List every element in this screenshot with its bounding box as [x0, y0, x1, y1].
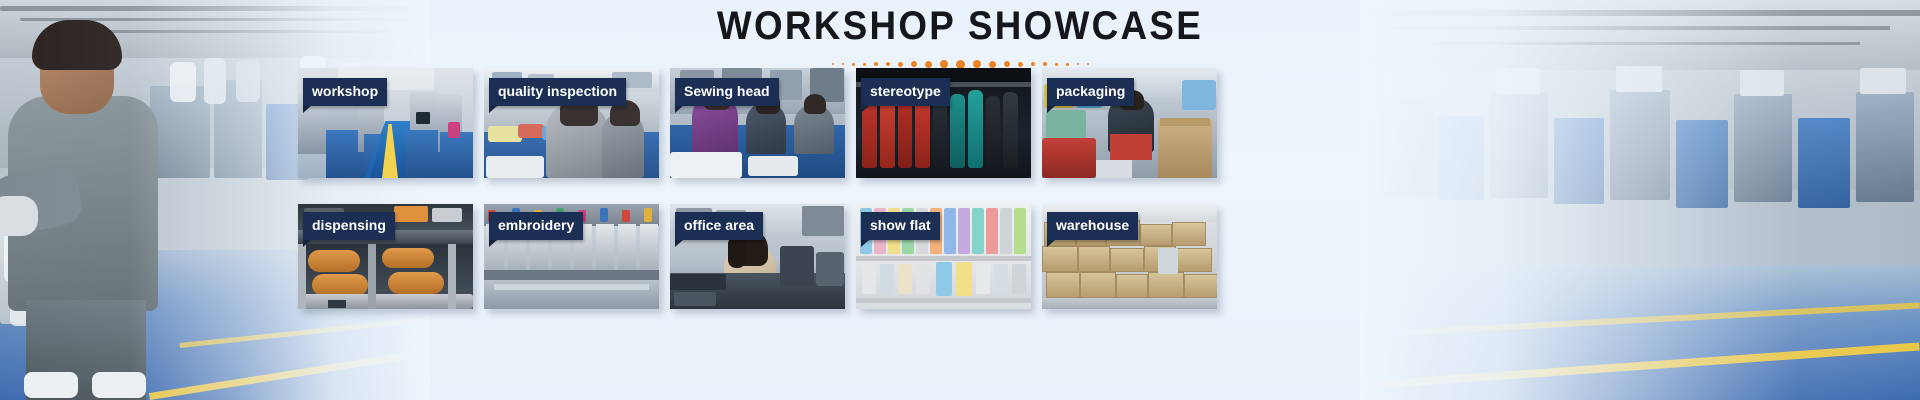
gallery-grid: workshop [298, 68, 1258, 309]
gallery-row-1: workshop [298, 68, 1258, 178]
gallery-card-workshop[interactable]: workshop [298, 68, 473, 178]
divider-dot-15 [1018, 62, 1023, 67]
divider-dot-1 [832, 63, 834, 65]
divider-dot-20 [1077, 63, 1079, 65]
gallery-card-show-flat[interactable]: show flat [856, 204, 1031, 309]
card-label: office area [675, 212, 763, 240]
card-label: dispensing [303, 212, 395, 240]
gallery-card-quality-inspection[interactable]: quality inspection [484, 68, 659, 178]
gallery-card-sewing-head[interactable]: Sewing head [670, 68, 845, 178]
divider-dot-7 [898, 62, 903, 67]
divider-dot-12 [973, 60, 981, 68]
page-title: WORKSHOP SHOWCASE [77, 0, 1843, 46]
card-label: Sewing head [675, 78, 779, 106]
divider-dot-2 [842, 63, 844, 65]
divider-dot-17 [1043, 62, 1047, 66]
divider-dot-4 [863, 63, 866, 66]
gallery-card-dispensing[interactable]: dispensing [298, 204, 473, 309]
divider-dot-5 [874, 62, 878, 66]
gallery-card-warehouse[interactable]: warehouse [1042, 204, 1217, 309]
divider-dot-9 [925, 61, 932, 68]
gallery-card-stereotype[interactable]: stereotype [856, 68, 1031, 178]
card-label: packaging [1047, 78, 1134, 106]
card-label: workshop [303, 78, 387, 106]
divider-dot-21 [1087, 63, 1089, 65]
divider-dot-18 [1055, 63, 1058, 66]
divider-dot-8 [911, 61, 917, 67]
gallery-row-2: dispensing [298, 204, 1258, 309]
card-label: warehouse [1047, 212, 1138, 240]
card-label: stereotype [861, 78, 950, 106]
workshop-showcase-banner: WORKSHOP SHOWCASE [0, 0, 1920, 400]
gallery-card-office-area[interactable]: office area [670, 204, 845, 309]
divider-dot-10 [940, 60, 948, 68]
gallery-card-packaging[interactable]: packaging [1042, 68, 1217, 178]
card-label: show flat [861, 212, 940, 240]
card-label: embroidery [489, 212, 583, 240]
divider-dot-16 [1031, 62, 1035, 66]
divider-dot-19 [1066, 63, 1069, 66]
divider-dot-6 [886, 62, 890, 66]
divider-dot-13 [989, 61, 996, 68]
divider-dot-14 [1004, 61, 1010, 67]
gallery-card-embroidery[interactable]: embroidery [484, 204, 659, 309]
banner-header: WORKSHOP SHOWCASE [0, 0, 1920, 70]
card-label: quality inspection [489, 78, 626, 106]
divider-dot-3 [852, 63, 855, 66]
